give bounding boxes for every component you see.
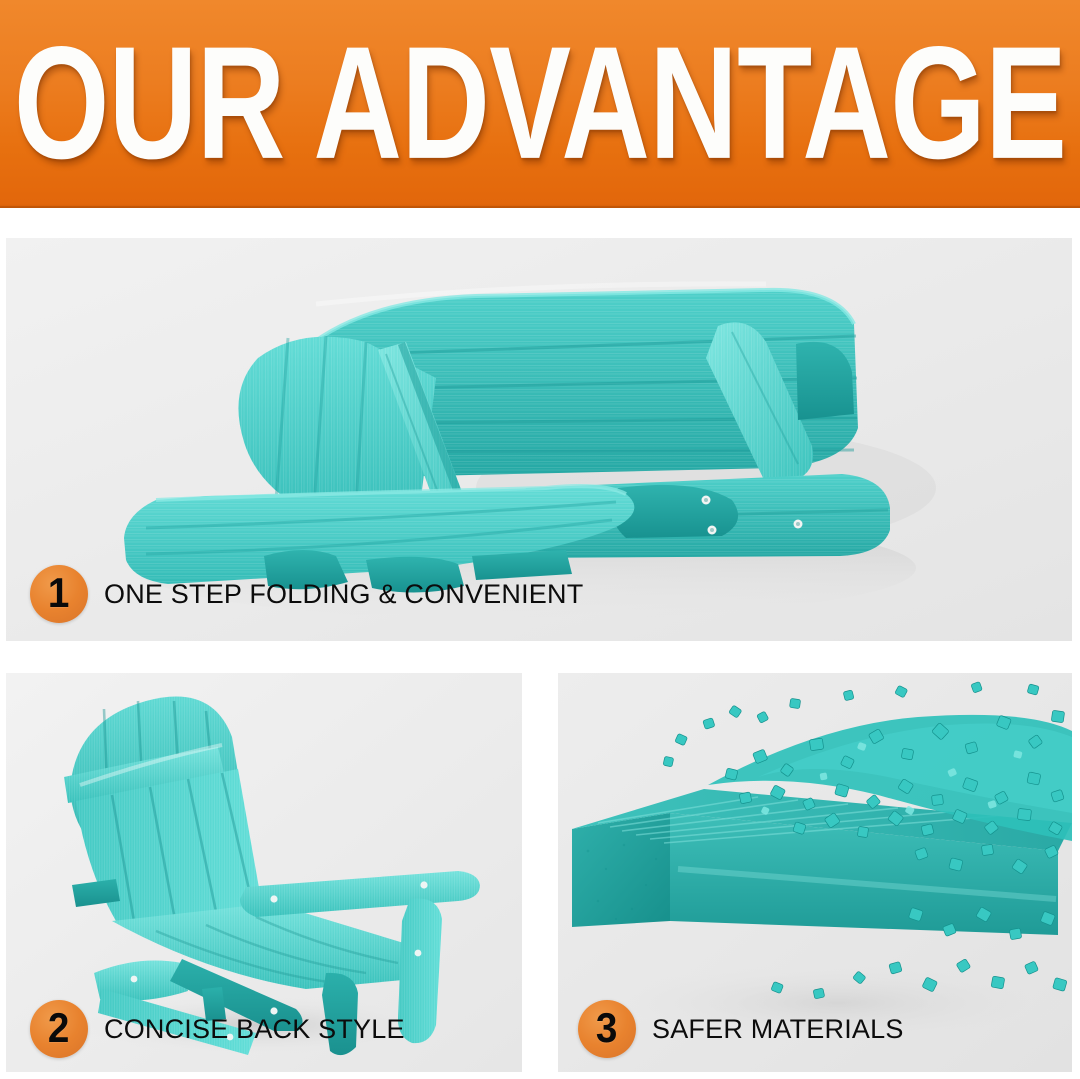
number-badge-3: 3 xyxy=(578,1000,636,1058)
feature-caption-1: 1 ONE STEP FOLDING & CONVENIENT xyxy=(30,565,583,623)
feature-caption-3: 3 SAFER MATERIALS xyxy=(578,1000,904,1058)
advantage-infographic: OUR ADVANTAGE xyxy=(0,0,1080,1079)
number-badge-1: 1 xyxy=(30,565,88,623)
badge-number: 1 xyxy=(48,572,69,614)
feature-caption-2: 2 CONCISE BACK STYLE xyxy=(30,1000,405,1058)
page-title: OUR ADVANTAGE xyxy=(14,28,1066,180)
badge-number: 2 xyxy=(48,1007,69,1049)
badge-number: 3 xyxy=(596,1007,617,1049)
feature-label-3: SAFER MATERIALS xyxy=(652,1014,904,1045)
header-banner: OUR ADVANTAGE xyxy=(0,0,1080,208)
number-badge-2: 2 xyxy=(30,1000,88,1058)
feature-label-2: CONCISE BACK STYLE xyxy=(104,1014,405,1045)
feature-label-1: ONE STEP FOLDING & CONVENIENT xyxy=(104,579,583,610)
